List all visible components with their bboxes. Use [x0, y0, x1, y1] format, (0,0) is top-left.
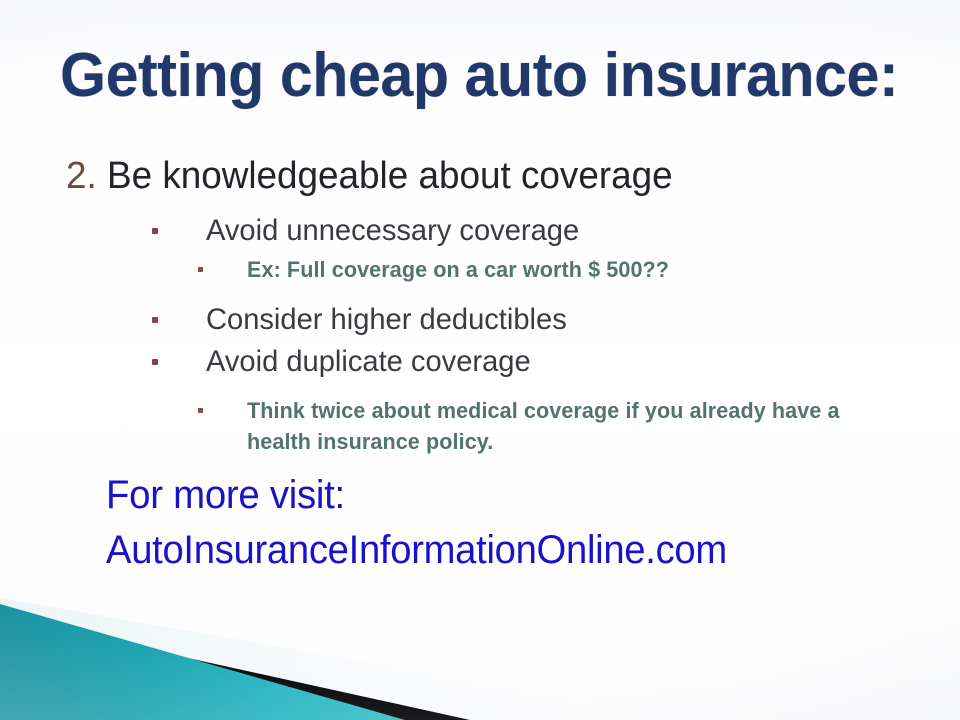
bullet-marker-icon	[152, 317, 158, 323]
promo-block: For more visit: AutoInsuranceInformation…	[106, 468, 756, 578]
headline-text: Be knowledgeable about coverage	[107, 155, 673, 197]
promo-line-1: For more visit:	[106, 468, 730, 523]
slide-title: Getting cheap auto insurance:	[60, 44, 881, 107]
list-item-label: Ex: Full coverage on a car worth $ 500??	[247, 254, 669, 285]
bullet-marker-icon	[198, 408, 203, 413]
promo-website-url: AutoInsuranceInformationOnline.com	[106, 523, 727, 578]
bullet-marker-icon	[152, 359, 158, 365]
list-item: Avoid duplicate coverage	[0, 343, 960, 381]
list-item: Ex: Full coverage on a car worth $ 500??	[0, 254, 960, 285]
list-item: Avoid unnecessary coverage	[0, 212, 960, 250]
list-item: Consider higher deductibles	[0, 301, 960, 339]
presentation-slide: Getting cheap auto insurance: 2. Be know…	[0, 0, 960, 720]
list-item-label: Avoid duplicate coverage	[206, 343, 531, 381]
list-item-label: Consider higher deductibles	[206, 301, 567, 339]
headline-number: 2.	[66, 155, 97, 197]
spacer	[0, 385, 960, 395]
list-item-label: Avoid unnecessary coverage	[206, 212, 579, 250]
list-item: Think twice about medical coverage if yo…	[0, 395, 960, 457]
spacer	[0, 289, 960, 301]
slide-headline: 2. Be knowledgeable about coverage	[66, 156, 673, 198]
list-item-label: Think twice about medical coverage if yo…	[247, 395, 889, 457]
bullet-marker-icon	[198, 267, 203, 272]
bullet-marker-icon	[152, 228, 158, 234]
bullet-list: Avoid unnecessary coverage Ex: Full cove…	[0, 212, 960, 461]
